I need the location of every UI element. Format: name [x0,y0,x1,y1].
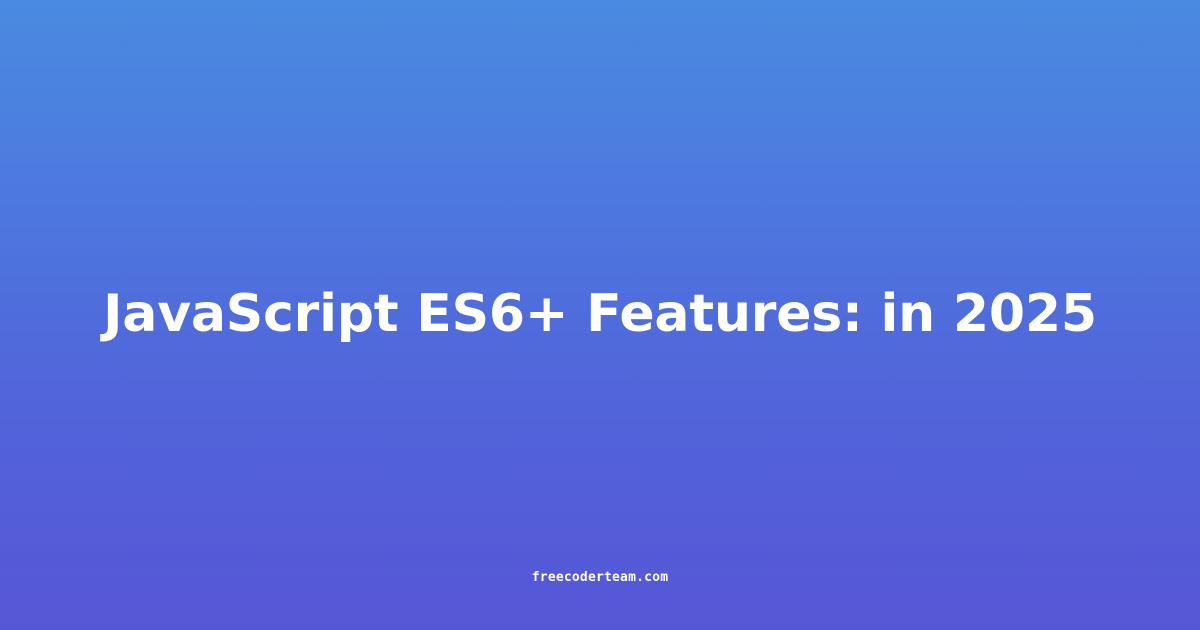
card-footer: freecoderteam.com [0,524,1200,630]
social-share-card: JavaScript ES6+ Features: in 2025 freeco… [0,0,1200,630]
site-domain-label: freecoderteam.com [532,571,668,584]
page-title: JavaScript ES6+ Features: in 2025 [103,284,1097,345]
